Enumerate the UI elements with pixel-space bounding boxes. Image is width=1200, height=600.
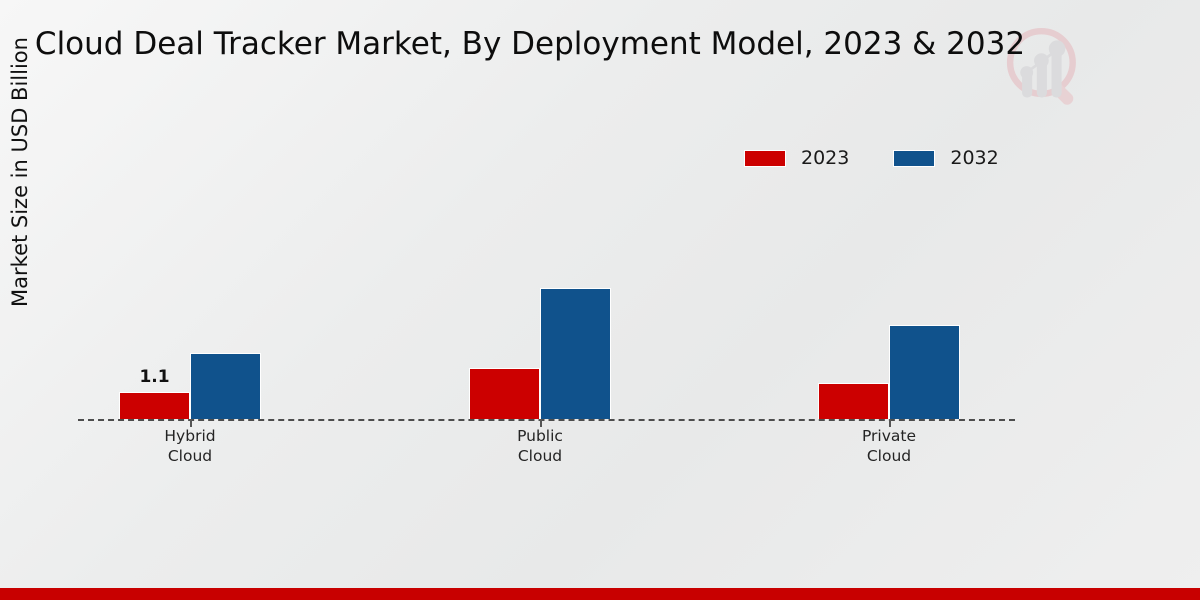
legend-label-2032: 2032 (950, 147, 998, 169)
y-axis-title: Market Size in USD Billion (8, 2, 32, 342)
legend-label-2023: 2023 (801, 147, 849, 169)
bar-value-label: 1.1 (120, 367, 189, 387)
category-line-1: Public (430, 426, 650, 446)
bar-pair (469, 170, 611, 419)
x-axis-category-label: HybridCloud (80, 426, 300, 466)
bar-2032[interactable] (190, 353, 261, 419)
x-axis-category-label: PrivateCloud (779, 426, 999, 466)
legend-item-2023[interactable]: 2023 (744, 147, 849, 169)
bar-pair (818, 170, 960, 419)
bar-2023[interactable] (469, 368, 540, 419)
bar-pair: 1.1 (119, 170, 261, 419)
bottom-accent-band (0, 588, 1200, 600)
plot-area: 1.1HybridCloudPublicCloudPrivateCloud (78, 170, 1015, 420)
bar-2032[interactable] (540, 288, 611, 419)
x-axis-baseline (78, 419, 1015, 421)
x-axis-category-label: PublicCloud (430, 426, 650, 466)
bar-2023[interactable] (818, 383, 889, 419)
legend-item-2032[interactable]: 2032 (893, 147, 998, 169)
chart-figure: Cloud Deal Tracker Market, By Deployment… (0, 0, 1200, 600)
legend-swatch-2032 (893, 150, 935, 167)
category-line-1: Private (779, 426, 999, 446)
bar-2032[interactable] (889, 325, 960, 419)
category-line-2: Cloud (80, 446, 300, 466)
bar-groups: 1.1HybridCloudPublicCloudPrivateCloud (78, 170, 1015, 419)
category-line-2: Cloud (779, 446, 999, 466)
chart-title: Cloud Deal Tracker Market, By Deployment… (0, 26, 1060, 62)
legend-swatch-2023 (744, 150, 786, 167)
bar-2023[interactable]: 1.1 (119, 392, 190, 419)
category-line-1: Hybrid (80, 426, 300, 446)
category-line-2: Cloud (430, 446, 650, 466)
chart-legend: 2023 2032 (744, 147, 999, 169)
